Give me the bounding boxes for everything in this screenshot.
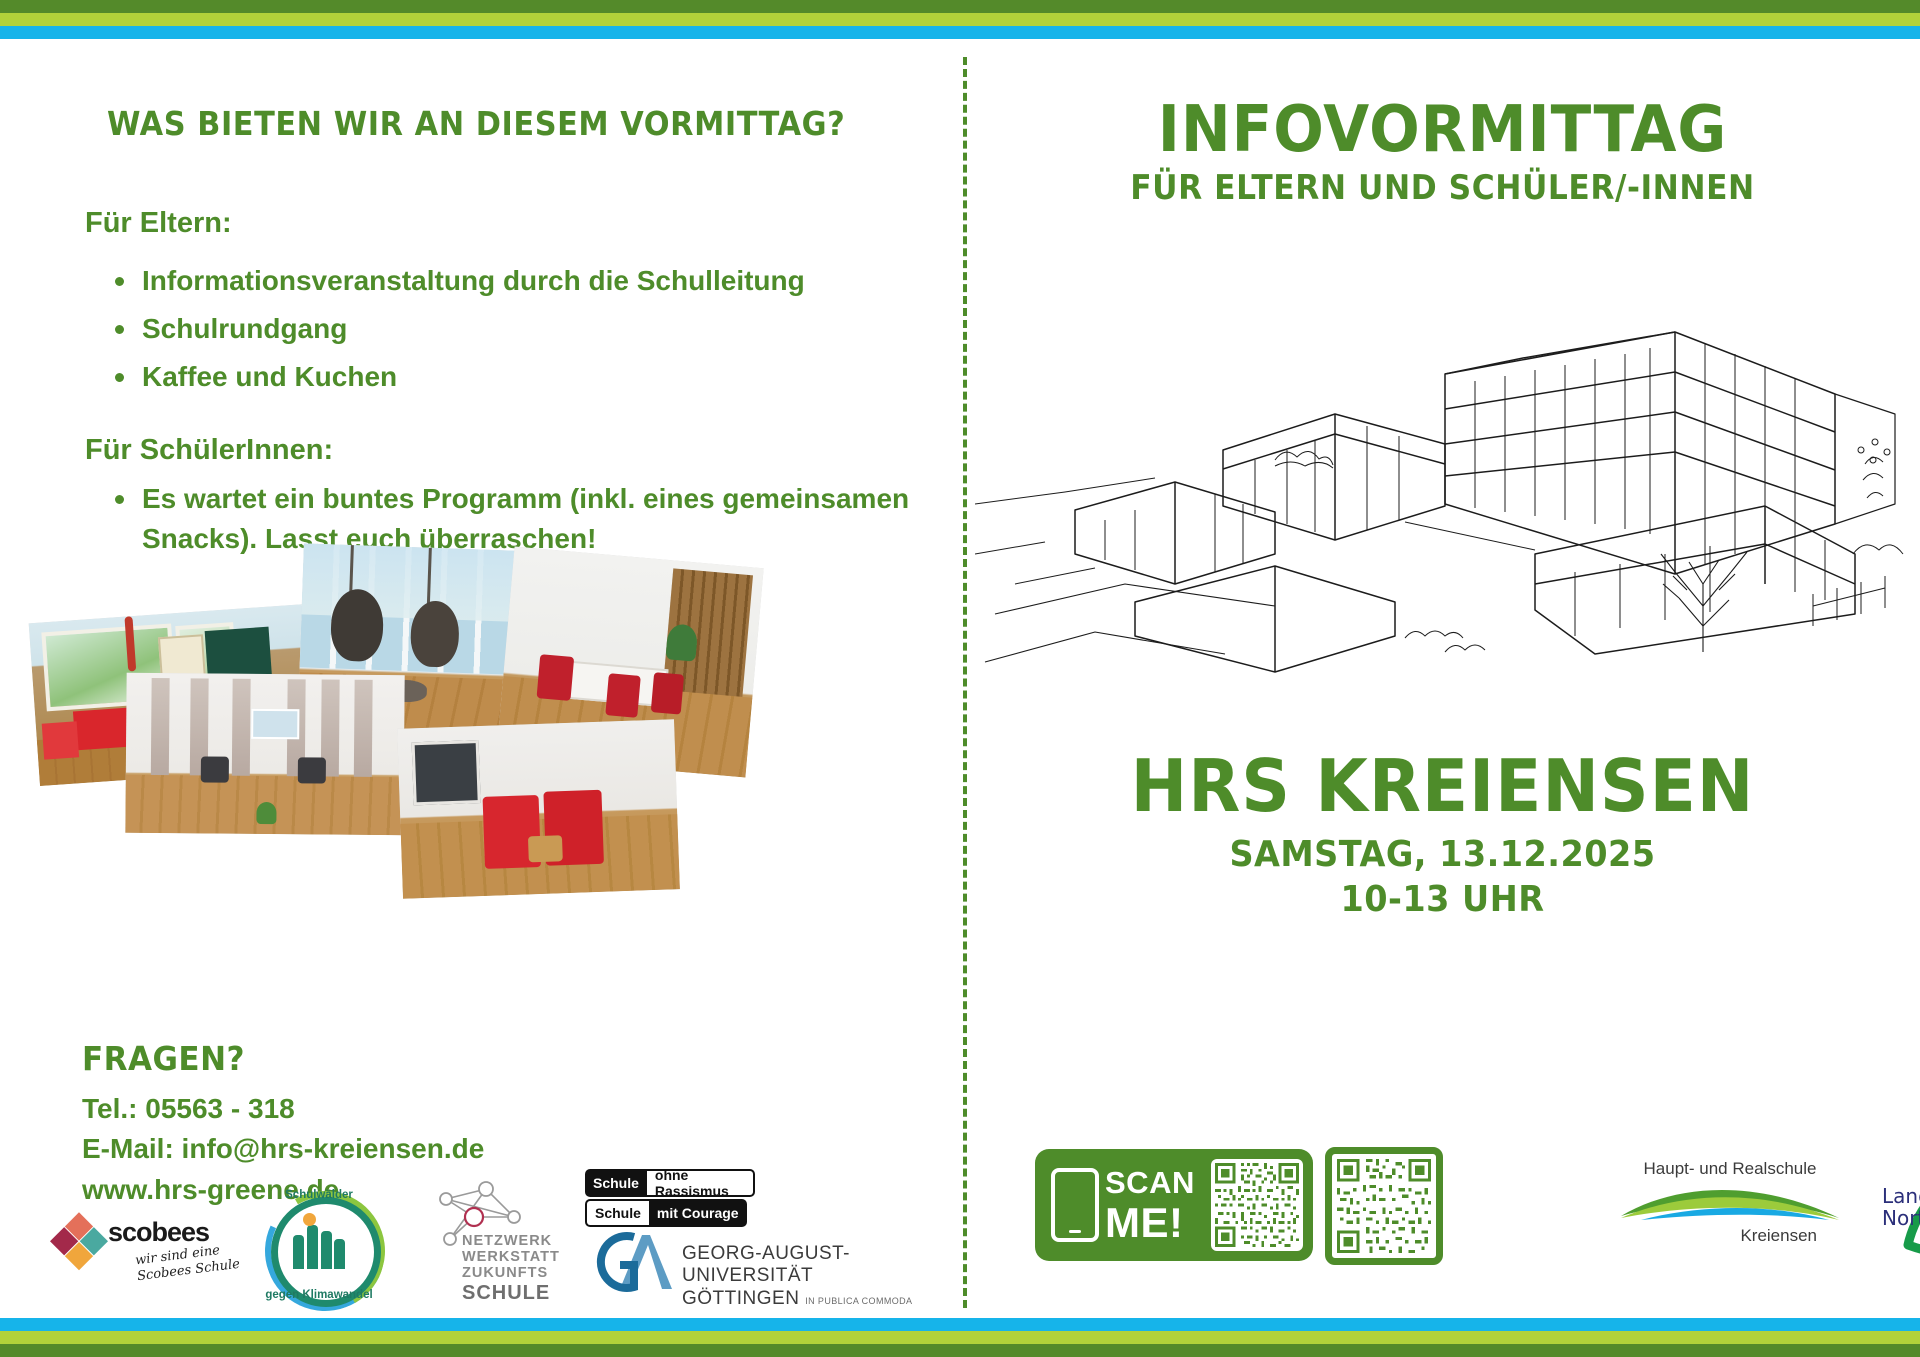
event-date: SAMSTAG, 13.12.2025 [998, 834, 1886, 875]
page-subtitle: FÜR ELTERN UND SCHÜLER/-INNEN [1003, 168, 1882, 208]
parents-list: Informationsveranstaltung durch die Schu… [100, 261, 962, 405]
smartphone-icon [1051, 1168, 1099, 1242]
right-panel: INFOVORMITTAG FÜR ELTERN UND SCHÜLER/-IN… [965, 39, 1920, 1318]
scan-me-badge[interactable]: SCAN ME! [1035, 1149, 1313, 1261]
stripe-cyan [0, 1318, 1920, 1331]
questions-title: FRAGEN? [82, 1039, 245, 1078]
page-title: INFOVORMITTAG [998, 93, 1886, 167]
netzwerk-text: NETZWERK WERKSTATT ZUKUNFTS SCHULE [462, 1233, 560, 1304]
top-border-stripes [0, 0, 1920, 39]
sor-row2-right: mit Courage [649, 1199, 747, 1227]
georg-august-universitaet-goettingen-logo: GEORG-AUGUST-UNIVERSITÄT GÖTTINGEN IN PU… [590, 1227, 930, 1303]
scan-line-1: SCAN [1105, 1167, 1195, 1198]
students-label: Für SchülerInnen: [85, 434, 333, 467]
school-name: HRS KREIENSEN [994, 744, 1892, 828]
sor-row1-right: ohne Rassismus [647, 1169, 755, 1197]
scan-line-2: ME! [1105, 1202, 1195, 1244]
curtain-room-photo [125, 673, 404, 835]
schulwaelder-sun-icon [303, 1213, 316, 1226]
scobees-logo: scobees wir sind eine Scobees Schule [58, 1209, 258, 1281]
offer-headline: WAS BIETEN WIR AN DIESEM VORMITTAG? [107, 104, 845, 143]
left-panel: WAS BIETEN WIR AN DIESEM VORMITTAG? Für … [0, 39, 965, 1318]
stripe-cyan [0, 26, 1920, 39]
contact-phone: Tel.: 05563 - 318 [82, 1089, 484, 1129]
sor-row1-left: Schule [585, 1169, 647, 1197]
list-item: Informationsveranstaltung durch die Schu… [142, 261, 962, 301]
qr-code-badge[interactable] [1211, 1159, 1303, 1251]
stripe-light-green [0, 1331, 1920, 1344]
stripe-dark-green [0, 1344, 1920, 1357]
list-item: Es wartet ein buntes Programm (inkl. ein… [142, 479, 932, 559]
flyer-body: WAS BIETEN WIR AN DIESEM VORMITTAG? Für … [0, 39, 1920, 1318]
schule-ohne-rassismus-logo: Schule ohne Rassismus Schule mit Courage [585, 1169, 755, 1231]
photo-collage [0, 569, 965, 1039]
parents-label: Für Eltern: [85, 207, 232, 240]
schulwaelder-bottom-text: gegen Klimawandel [265, 1289, 373, 1301]
contact-email: E-Mail: info@hrs-kreiensen.de [82, 1129, 484, 1169]
stripe-light-green [0, 13, 1920, 26]
scobees-mark-icon [49, 1212, 108, 1271]
red-armchairs-photo [397, 719, 680, 899]
stripe-dark-green [0, 0, 1920, 13]
qr-code-secondary[interactable] [1325, 1147, 1443, 1265]
landkreis-northeim-text: Landkreis Northeim [1882, 1185, 1920, 1230]
school-building-sketch [975, 254, 1915, 694]
hrs-logo-top-text: Haupt- und Realschule [1615, 1159, 1845, 1179]
hrs-logo-bottom-text: Kreiensen [1615, 1226, 1845, 1246]
schulwaelder-trees-icon [291, 1221, 347, 1269]
ga-monogram-icon [590, 1227, 676, 1297]
event-time: 10-13 UHR [998, 879, 1886, 920]
dashed-divider [963, 57, 967, 1308]
partner-logos-left: scobees wir sind eine Scobees Schule Sch… [50, 1179, 950, 1309]
list-item: Kaffee und Kuchen [142, 357, 962, 397]
sor-row2-left: Schule [585, 1199, 649, 1227]
schulwaelder-logo: Schulwälder gegen Klimawandel [265, 1191, 373, 1299]
hrs-logo-wave-icon [1615, 1180, 1845, 1224]
schulwaelder-top-text: Schulwälder [265, 1189, 373, 1201]
scobees-wordmark: scobees [108, 1217, 209, 1248]
landkreis-northeim-logo: Landkreis Northeim [1860, 1149, 1920, 1269]
list-item: Schulrundgang [142, 309, 962, 349]
bottom-border-stripes [0, 1318, 1920, 1357]
netzwerk-werkstatt-zukunftsschule-logo: NETZWERK WERKSTATT ZUKUNFTS SCHULE [410, 1181, 560, 1306]
haupt-und-realschule-kreiensen-logo: Haupt- und Realschule Kreiensen [1615, 1159, 1845, 1264]
scan-me-text: SCAN ME! [1105, 1167, 1195, 1244]
